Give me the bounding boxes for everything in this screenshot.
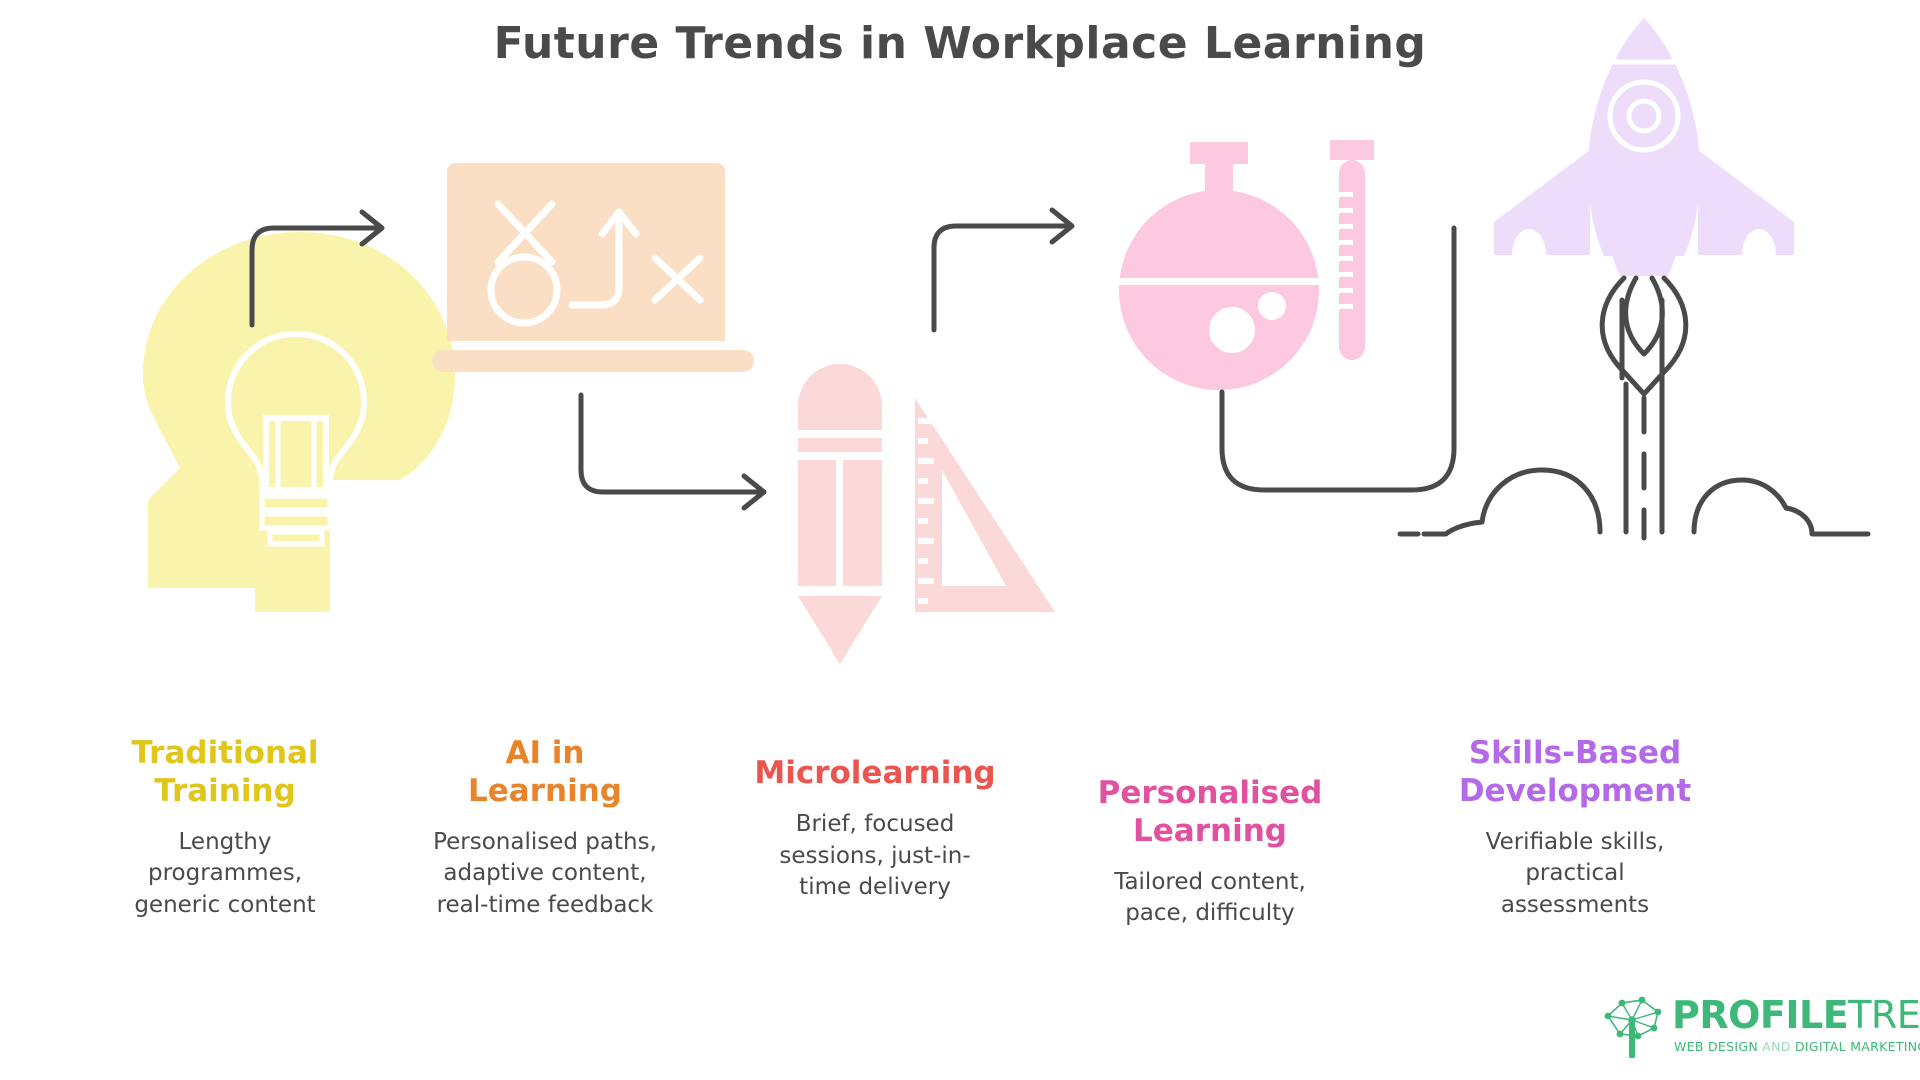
head-lightbulb-icon <box>143 232 455 612</box>
profiletree-logo[interactable]: PROFILETREE WEB DESIGN AND DIGITAL MARKE… <box>1596 992 1906 1066</box>
infographic-illustration <box>0 0 1920 700</box>
connector-arrow-2 <box>581 395 764 508</box>
flask-testtube-icon <box>1119 140 1374 390</box>
stage-column-traditional-training: Traditional Training Lengthy programmes,… <box>55 735 395 922</box>
profiletree-tree-icon <box>1596 994 1668 1060</box>
stage-heading-traditional-training: Traditional Training <box>55 735 395 811</box>
rocket-icon <box>1494 18 1794 276</box>
stage-captions: Traditional Training Lengthy programmes,… <box>0 735 1920 1005</box>
stage-body-personalised-learning: Tailored content, pace, difficulty <box>1040 867 1380 930</box>
stage-heading-skills-based-development: Skills-Based Development <box>1405 735 1745 811</box>
rocket-exhaust-trail <box>1400 278 1868 538</box>
pencil-ruler-icon <box>798 364 1055 664</box>
stage-body-microlearning: Brief, focused sessions, just-in- time d… <box>705 809 1045 904</box>
stage-column-microlearning: Microlearning Brief, focused sessions, j… <box>705 755 1045 904</box>
stage-body-traditional-training: Lengthy programmes, generic content <box>55 827 395 922</box>
stage-heading-personalised-learning: Personalised Learning <box>1040 775 1380 851</box>
profiletree-wordmark: PROFILETREE <box>1672 996 1920 1034</box>
logo-tagline-part1: WEB DESIGN <box>1674 1039 1762 1054</box>
stage-column-ai-in-learning: AI in Learning Personalised paths, adapt… <box>375 735 715 922</box>
logo-word-tree: TREE <box>1848 993 1920 1037</box>
stage-body-skills-based-development: Verifiable skills, practical assessments <box>1405 827 1745 922</box>
profiletree-tagline: WEB DESIGN AND DIGITAL MARKETING <box>1674 1039 1920 1054</box>
stage-column-skills-based-development: Skills-Based Development Verifiable skil… <box>1405 735 1745 922</box>
logo-tagline-and: AND <box>1762 1039 1795 1054</box>
stage-heading-ai-in-learning: AI in Learning <box>375 735 715 811</box>
stage-body-ai-in-learning: Personalised paths, adaptive content, re… <box>375 827 715 922</box>
stage-column-personalised-learning: Personalised Learning Tailored content, … <box>1040 775 1380 930</box>
logo-tagline-part2: DIGITAL MARKETING <box>1795 1039 1920 1054</box>
logo-word-profile: PROFILE <box>1672 993 1848 1037</box>
stage-heading-microlearning: Microlearning <box>705 755 1045 793</box>
strategy-board-icon <box>432 163 754 372</box>
connector-arrow-3 <box>934 210 1072 330</box>
